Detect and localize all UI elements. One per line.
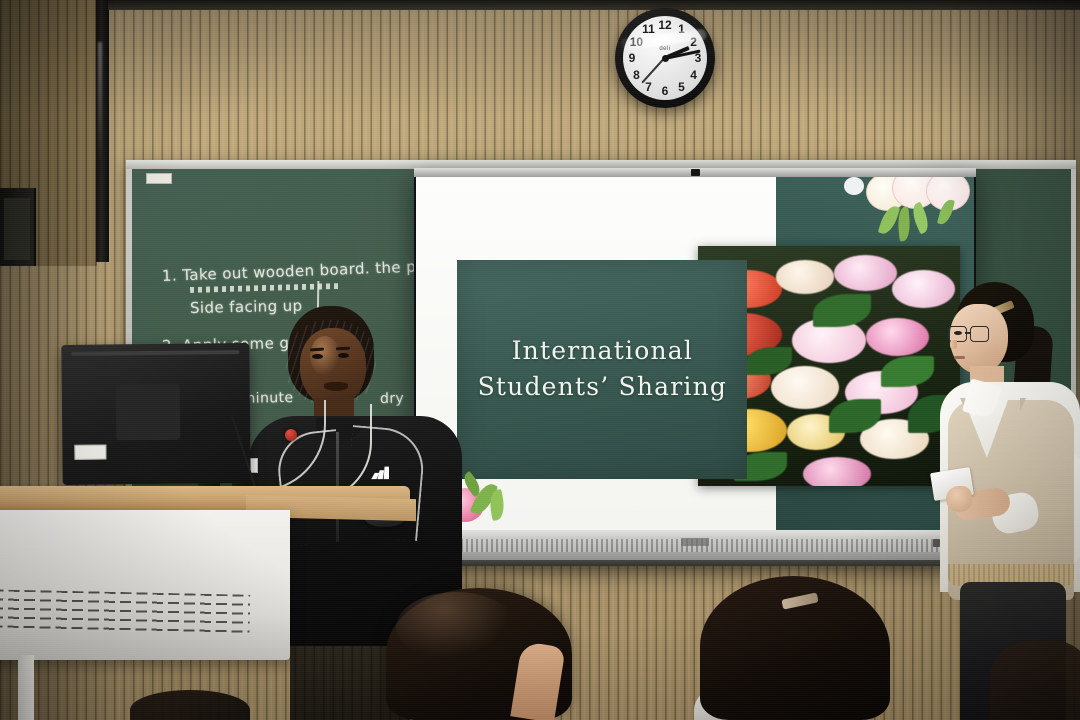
presenter-mouth — [954, 356, 965, 359]
slide-title-panel: International Students’ Sharing — [457, 260, 747, 479]
clock-center-pin — [662, 55, 669, 62]
adidas-trefoil-icon — [370, 464, 392, 480]
audience-member-far-right — [990, 640, 1080, 720]
clock-numeral-12: 12 — [658, 18, 672, 32]
speaker-mouth — [324, 382, 348, 391]
monitor[interactable] — [61, 343, 250, 485]
glasses-icon — [948, 326, 992, 341]
slide-title-line-2: Students’ Sharing — [478, 369, 728, 405]
slide-title-line-1: International — [512, 333, 693, 369]
panel-top-bezel — [414, 168, 976, 177]
monitor-vesa-mount — [116, 384, 181, 441]
podium-front-panel — [0, 510, 290, 660]
wall-clock: deli 121234567891011 — [615, 8, 715, 108]
speaker-eye-left — [312, 354, 323, 359]
clock-numeral-8: 8 — [629, 68, 643, 82]
clock-numeral-4: 4 — [687, 68, 701, 82]
speaker-eye-right — [338, 353, 349, 358]
panel-screen[interactable]: International Students’ Sharing — [416, 177, 974, 530]
monitor-label — [74, 445, 106, 460]
panel-brand-logo — [681, 538, 709, 546]
clock-numeral-9: 9 — [625, 51, 639, 65]
microphone-icon[interactable] — [285, 429, 297, 441]
panel-bottom-bezel — [414, 530, 976, 560]
wall-top-shading — [0, 0, 1080, 120]
clock-numeral-6: 6 — [658, 84, 672, 98]
presenter-hand — [946, 486, 972, 512]
podium-leg — [18, 655, 34, 720]
audience-hair-sheen — [396, 592, 516, 662]
chalkboard-tag — [146, 173, 172, 184]
clock-face: deli 121234567891011 — [623, 16, 707, 100]
classroom-scene: deli 121234567891011 1. Take out wooden … — [0, 0, 1080, 720]
podium-vent-slots — [0, 589, 250, 634]
camera-sensor-icon — [691, 169, 700, 176]
interactive-flat-panel[interactable]: International Students’ Sharing — [414, 168, 976, 560]
clock-numeral-5: 5 — [675, 80, 689, 94]
presenter-nose — [950, 340, 957, 349]
